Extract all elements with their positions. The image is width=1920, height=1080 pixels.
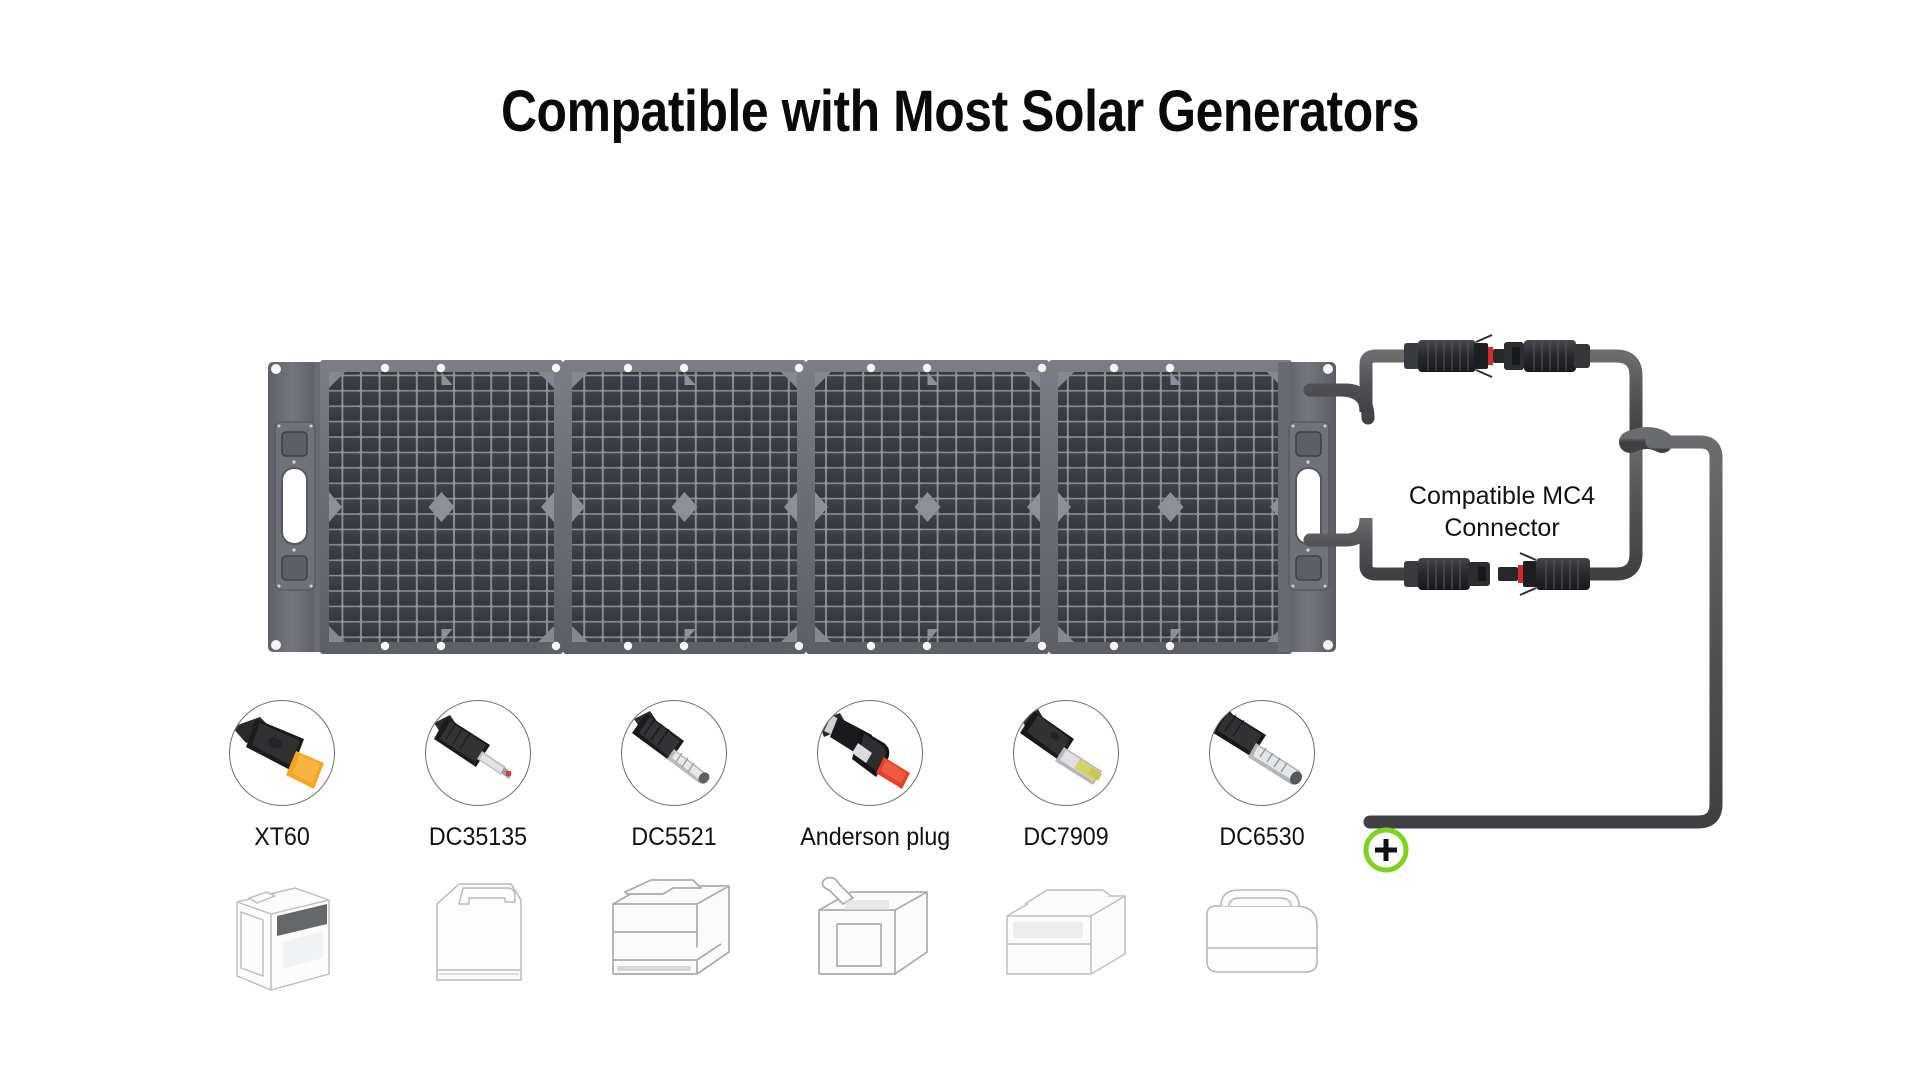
mc4-connector-label: Compatible MC4 Connector — [1352, 480, 1652, 544]
connector-item-dc35135[interactable]: DC35135 — [403, 700, 553, 852]
connector-label: Anderson plug — [800, 823, 940, 852]
solar-panel-illustration — [268, 360, 1336, 654]
mc4-label-line2: Connector — [1444, 514, 1559, 542]
dc5521-connector-icon — [621, 700, 727, 806]
connector-label: DC5521 — [604, 823, 744, 852]
connector-label: XT60 — [212, 823, 352, 852]
connector-label: DC7909 — [996, 823, 1136, 852]
power-station-outline-3 — [589, 870, 759, 1000]
compatible-device-row — [0, 870, 1920, 1010]
connector-icon-row: XT60 DC35135 — [0, 700, 1920, 760]
mc4-label-line1: Compatible MC4 — [1409, 482, 1595, 510]
xt60-connector-icon — [229, 700, 335, 806]
dc35135-connector-icon — [425, 700, 531, 806]
connector-item-dc6530[interactable]: DC6530 — [1187, 700, 1337, 852]
power-station-outline-4 — [785, 870, 955, 1000]
connector-label: DC6530 — [1192, 823, 1332, 852]
power-station-outline-1 — [197, 870, 367, 1000]
mc4-connector-bottom-left — [1404, 558, 1490, 590]
connector-item-xt60[interactable]: XT60 — [207, 700, 357, 852]
panel-left-endcap — [268, 362, 326, 652]
infographic-canvas: Compatible with Most Solar Generators — [0, 0, 1920, 1080]
page-title: Compatible with Most Solar Generators — [134, 80, 1785, 144]
dc6530-connector-icon — [1209, 700, 1315, 806]
mc4-wiring-diagram — [1300, 330, 1760, 890]
panel-segments — [320, 360, 1292, 654]
mc4-connector-bottom-right — [1498, 553, 1590, 595]
dc7909-connector-icon — [1013, 700, 1119, 806]
connector-item-anderson-plug[interactable]: Anderson plug — [795, 700, 945, 852]
anderson-plug-icon — [817, 700, 923, 806]
connector-label: DC35135 — [408, 823, 548, 852]
power-station-outline-2 — [393, 870, 563, 1000]
connector-item-dc7909[interactable]: DC7909 — [991, 700, 1141, 852]
power-station-outline-5 — [981, 870, 1151, 1000]
mc4-connector-top-right — [1504, 340, 1590, 372]
connector-item-dc5521[interactable]: DC5521 — [599, 700, 749, 852]
power-station-outline-6 — [1177, 870, 1347, 1000]
mc4-connector-top-left — [1404, 335, 1511, 377]
